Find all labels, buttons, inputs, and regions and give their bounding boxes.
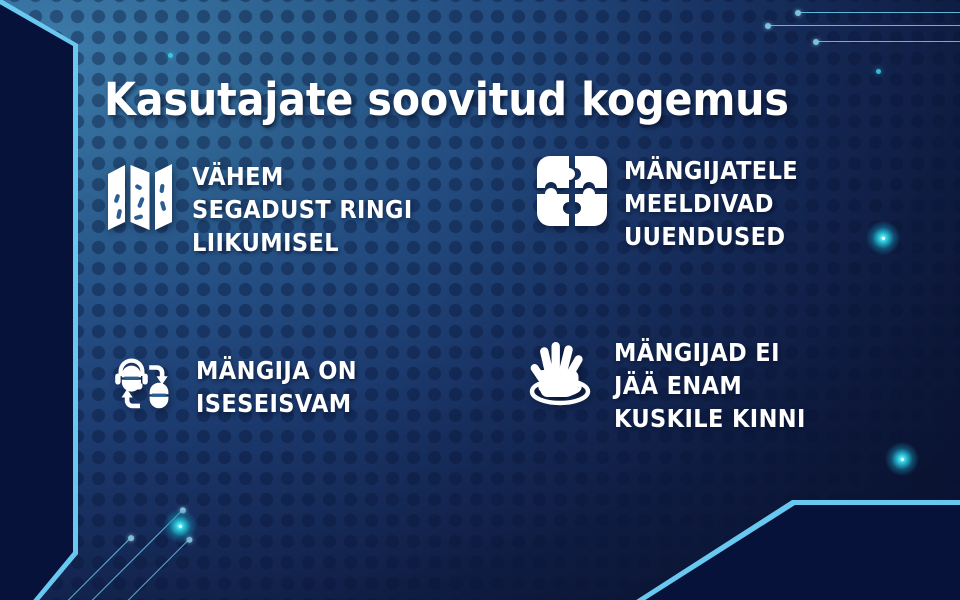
decor-diag-line-3 xyxy=(124,539,190,600)
decor-line-dot xyxy=(126,534,134,542)
feature-label: MÄNGIJA ON ISESEISVAM xyxy=(196,348,357,420)
feature-item-less-confusion: VÄHEM SEGADUST RINGI LIIKUMISEL xyxy=(104,158,413,259)
left-angled-panel xyxy=(0,0,78,600)
accent-dot-upper-left xyxy=(168,53,173,58)
folded-map-icon xyxy=(104,158,176,236)
accent-dot-upper-right xyxy=(876,69,881,74)
feature-item-more-independent: MÄNGIJA ON ISESEISVAM xyxy=(110,348,357,422)
feature-item-not-stuck: MÄNGIJAD EI JÄÄ ENAM KUSKILE KINNI xyxy=(522,334,806,435)
decor-line-top-1 xyxy=(798,12,960,13)
decor-line-dot xyxy=(813,39,819,45)
page-title: Kasutajate soovitud kogemus xyxy=(104,74,789,126)
glow-dot-bottom-left xyxy=(163,509,197,543)
decor-line-top-3 xyxy=(816,41,960,42)
feature-label: MÄNGIJAD EI JÄÄ ENAM KUSKILE KINNI xyxy=(614,334,806,435)
feature-label: VÄHEM SEGADUST RINGI LIIKUMISEL xyxy=(192,158,413,259)
sinking-hand-icon xyxy=(522,334,598,414)
puzzle-pieces-icon xyxy=(536,152,608,230)
support-handoff-icon xyxy=(110,348,180,422)
decor-line-top-2 xyxy=(768,25,960,26)
decor-line-dot xyxy=(765,23,771,29)
feature-item-liked-updates: MÄNGIJATELE MEELDIVAD UUENDUSED xyxy=(536,152,798,253)
feature-label: MÄNGIJATELE MEELDIVAD UUENDUSED xyxy=(624,152,798,253)
decor-line-dot xyxy=(795,10,801,16)
slide-canvas: Kasutajate soovitud kogemus xyxy=(0,0,960,600)
feature-list: VÄHEM SEGADUST RINGI LIIKUMISEL xyxy=(104,152,894,472)
